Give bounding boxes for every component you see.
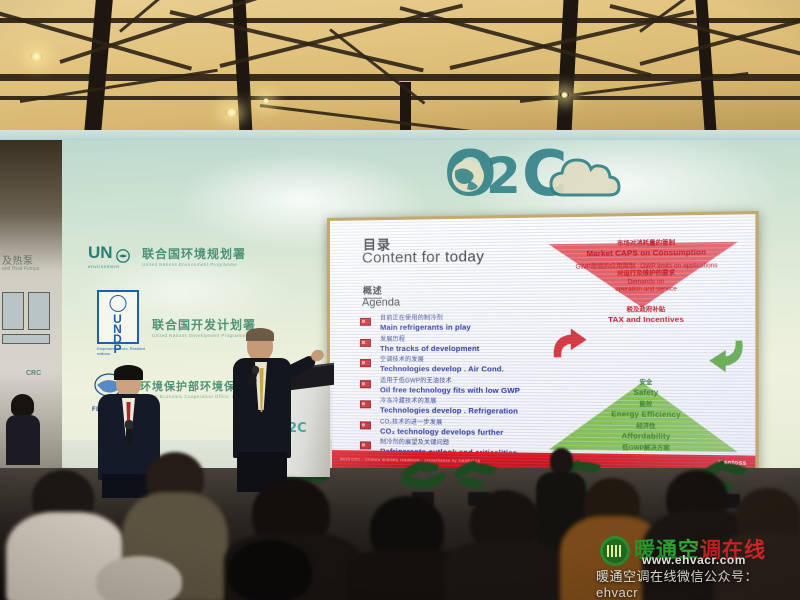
undp-emblem-icon bbox=[110, 295, 127, 312]
bullet-icon bbox=[360, 421, 371, 429]
watermark: 暖通空调在线 www.ehvacr.com bbox=[600, 534, 796, 568]
slide-title-en: Content for today bbox=[362, 248, 484, 267]
un-environment-cn-block: 联合国环境规划署 United Nations Environment Prog… bbox=[142, 245, 246, 267]
speaker-presenter bbox=[225, 330, 317, 490]
red-up-arrow-icon bbox=[551, 324, 595, 359]
hall-sign-en: and Heat Pumps bbox=[2, 266, 60, 272]
watermark-caption: 暖通空调在线微信公众号：ehvacr bbox=[596, 566, 800, 600]
row-cn: GWP限值的应用限制 bbox=[575, 264, 635, 271]
bullet-icon bbox=[360, 318, 371, 326]
ehvacr-logo-icon bbox=[600, 536, 630, 566]
ceiling-light bbox=[30, 52, 43, 61]
un-acronym: UN bbox=[88, 243, 113, 263]
row-en-cont: operation and service bbox=[542, 286, 752, 295]
un-environment-logo: UN environment bbox=[88, 243, 130, 269]
bullet-icon bbox=[360, 338, 371, 346]
market-drivers-diagram: 市场对消耗量的管制 Market CAPS on Consumption GWP… bbox=[542, 242, 752, 453]
un-tagline: environment bbox=[88, 264, 130, 269]
o2c-logo: O 2 C bbox=[444, 139, 612, 211]
hall-sign-cn: 及热泵 bbox=[2, 252, 58, 267]
globe-icon bbox=[451, 159, 485, 193]
undp-acronym: UNDP bbox=[99, 314, 137, 354]
diagram-row: 市场对消耗量的管制 Market CAPS on Consumption bbox=[542, 240, 752, 258]
ceiling-light bbox=[225, 108, 238, 117]
projection-screen: 目录 Content for today 概述 Agenda 目前正在使用的制冷… bbox=[327, 211, 759, 483]
un-en-name: United Nations Environment Programme bbox=[142, 262, 246, 267]
un-cn-name: 联合国环境规划署 bbox=[142, 245, 246, 262]
un-emblem-icon bbox=[116, 249, 130, 263]
bullet-icon bbox=[360, 441, 371, 449]
conference-photo-scene: 及热泵 and Heat Pumps CRC O 2 C UN environm… bbox=[0, 0, 800, 600]
diagram-row: 税及政府补贴 TAX and Incentives bbox=[542, 307, 752, 323]
ceiling-light bbox=[560, 92, 569, 98]
slide-section-en: Agenda bbox=[362, 297, 400, 309]
seated-person-left bbox=[4, 396, 44, 466]
undp-logo: UNDP Empowered lives. Resilient nations. bbox=[97, 290, 149, 356]
diagram-row: 经济性 Affordability bbox=[542, 423, 752, 441]
ceiling-light bbox=[262, 98, 270, 104]
bullet-icon bbox=[360, 359, 371, 367]
diagram-row: 能效 Energy Efficiency bbox=[542, 401, 752, 418]
bullet-icon bbox=[360, 400, 371, 408]
bullet-icon bbox=[360, 380, 371, 388]
diagram-row: 安全 Safety bbox=[542, 380, 752, 397]
green-down-arrow-icon bbox=[702, 339, 746, 375]
row-en: TAX and Incentives bbox=[542, 315, 752, 324]
hall-logo: CRC bbox=[26, 370, 41, 377]
cloud-icon bbox=[549, 153, 621, 203]
row-en: Safety bbox=[542, 388, 752, 397]
row-en: GWP limits on applications bbox=[640, 263, 717, 270]
watermark-url: www.ehvacr.com bbox=[642, 553, 746, 567]
diagram-row: 对运行及维护的要求 Demands on operation and servi… bbox=[542, 270, 752, 295]
hall-ceiling bbox=[0, 0, 800, 132]
